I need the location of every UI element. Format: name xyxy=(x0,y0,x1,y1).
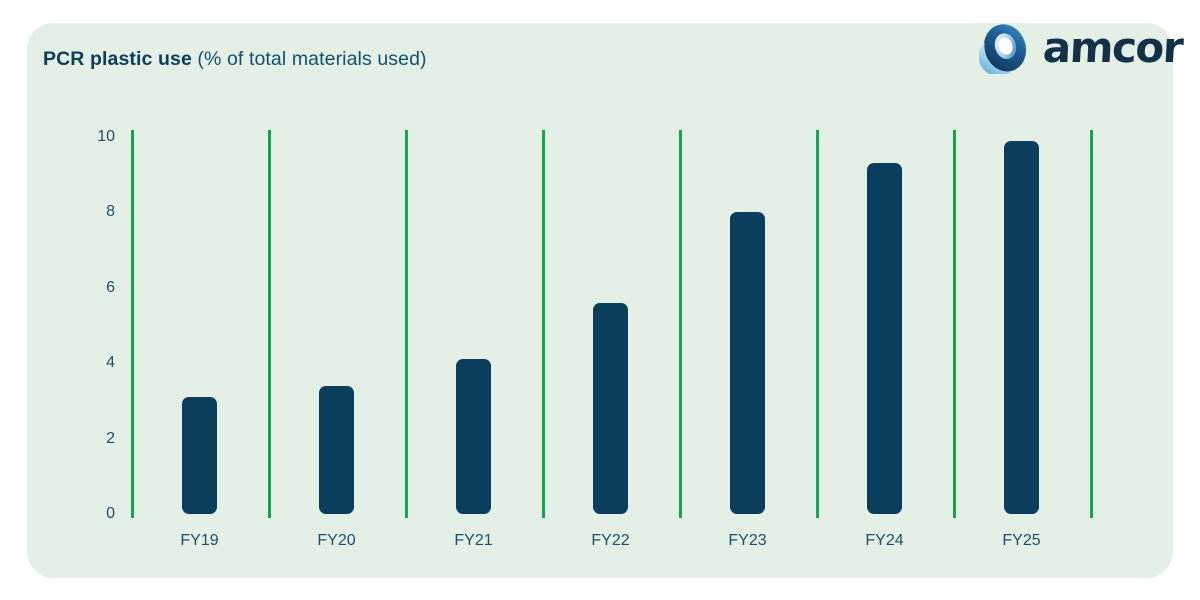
x-axis-tick-label: FY20 xyxy=(268,532,405,550)
x-axis-tick-label: FY23 xyxy=(679,532,816,550)
x-axis-tick-label: FY21 xyxy=(405,532,542,550)
grid-line xyxy=(816,130,819,518)
page-title: PCR plastic use (% of total materials us… xyxy=(43,48,427,71)
grid-line xyxy=(679,130,682,518)
x-axis-tick-label: FY22 xyxy=(542,532,679,550)
plot-area xyxy=(131,130,1101,518)
chart-screenshot: PCR plastic use (% of total materials us… xyxy=(0,0,1200,600)
grid-line xyxy=(268,130,271,518)
x-axis: FY19FY20FY21FY22FY23FY24FY25 xyxy=(131,532,1101,556)
y-axis-tick-label: 8 xyxy=(75,203,115,221)
amcor-swirl-logo-icon xyxy=(979,22,1031,74)
chart-title-subtitle: (% of total materials used) xyxy=(192,48,427,70)
bar-fy25 xyxy=(1004,141,1039,514)
brand-logo: amcor xyxy=(979,22,1182,74)
x-axis-tick-label: FY19 xyxy=(131,532,268,550)
grid-line xyxy=(405,130,408,518)
bar-fy19 xyxy=(182,397,217,514)
y-axis-tick-label: 10 xyxy=(75,128,115,146)
bar-fy24 xyxy=(867,163,902,514)
bar-fy22 xyxy=(593,303,628,514)
grid-line xyxy=(953,130,956,518)
y-axis-tick-label: 6 xyxy=(75,279,115,297)
y-axis: 0246810 xyxy=(61,130,115,518)
y-axis-tick-label: 4 xyxy=(75,354,115,372)
y-axis-tick-label: 0 xyxy=(75,505,115,523)
bar-fy21 xyxy=(456,359,491,514)
chart-title-strong: PCR plastic use xyxy=(43,48,192,70)
y-axis-tick-label: 2 xyxy=(75,430,115,448)
grid-line xyxy=(542,130,545,518)
brand-wordmark: amcor xyxy=(1042,27,1183,69)
bar-fy20 xyxy=(319,386,354,514)
x-axis-tick-label: FY25 xyxy=(953,532,1090,550)
grid-line xyxy=(131,130,134,518)
grid-line xyxy=(1090,130,1093,518)
x-axis-tick-label: FY24 xyxy=(816,532,953,550)
bar-fy23 xyxy=(730,212,765,514)
